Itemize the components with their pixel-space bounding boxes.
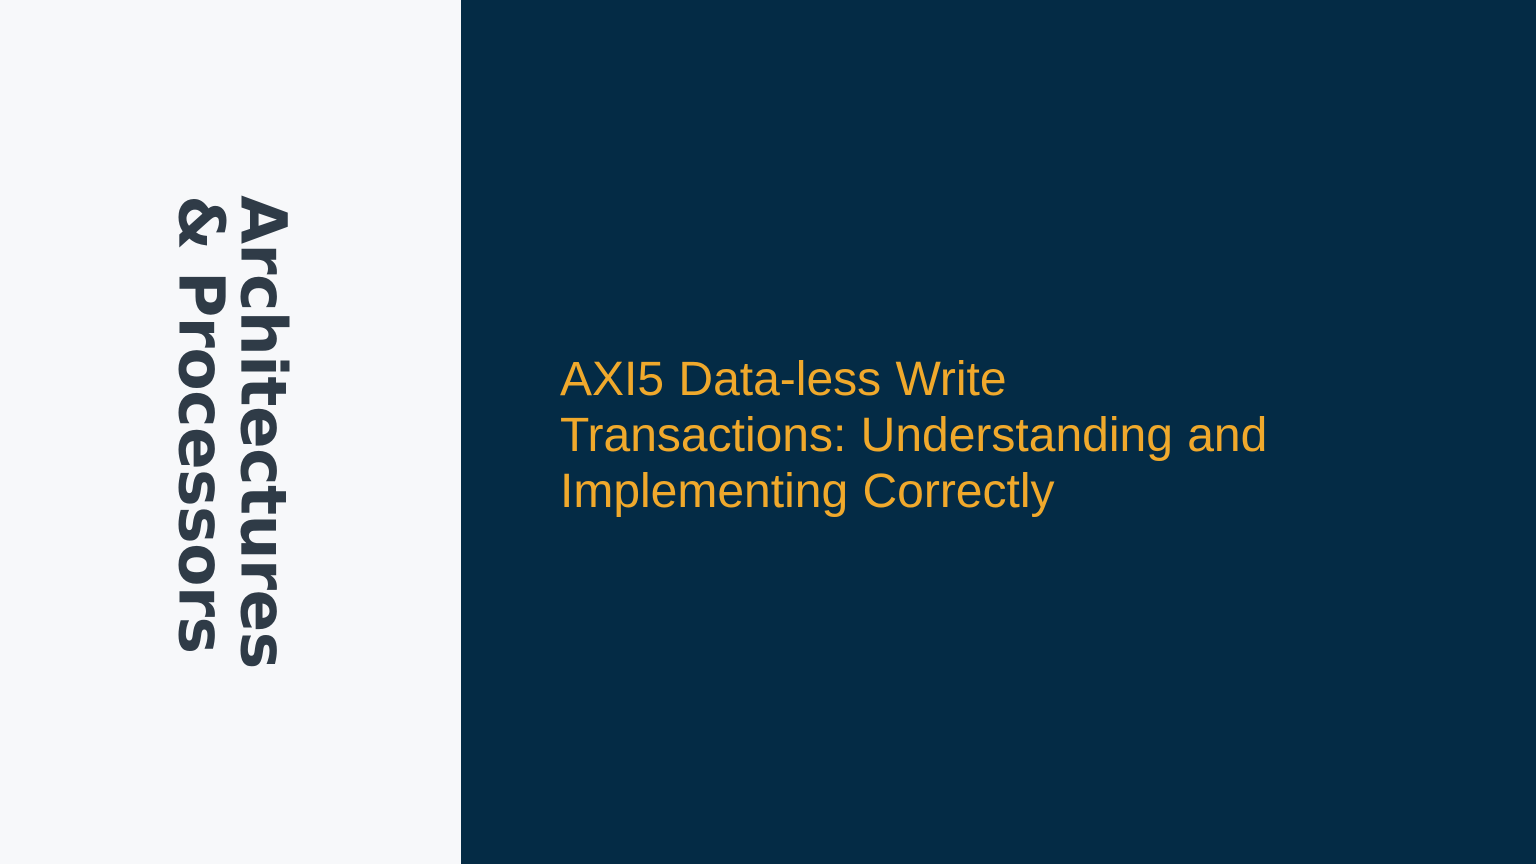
brand-line-processors: & Processors [167,195,231,669]
brand-line-architectures: Architectures [230,195,294,669]
presentation-slide: Architectures & Processors AXI5 Data-les… [0,0,1536,864]
title-line-3: Implementing Correctly [560,465,1055,518]
sidebar-panel: Architectures & Processors [0,0,461,864]
sidebar-label-container: Architectures & Processors [0,0,461,864]
page-title: AXI5 Data-less Write Transactions: Under… [560,352,1470,520]
title-line-1: AXI5 Data-less Write [560,353,1007,406]
content-panel: AXI5 Data-less Write Transactions: Under… [461,0,1536,864]
title-block: AXI5 Data-less Write Transactions: Under… [560,352,1470,520]
title-line-2: Transactions: Understanding and [560,409,1267,462]
vertical-brand-label: Architectures & Processors [167,195,294,669]
